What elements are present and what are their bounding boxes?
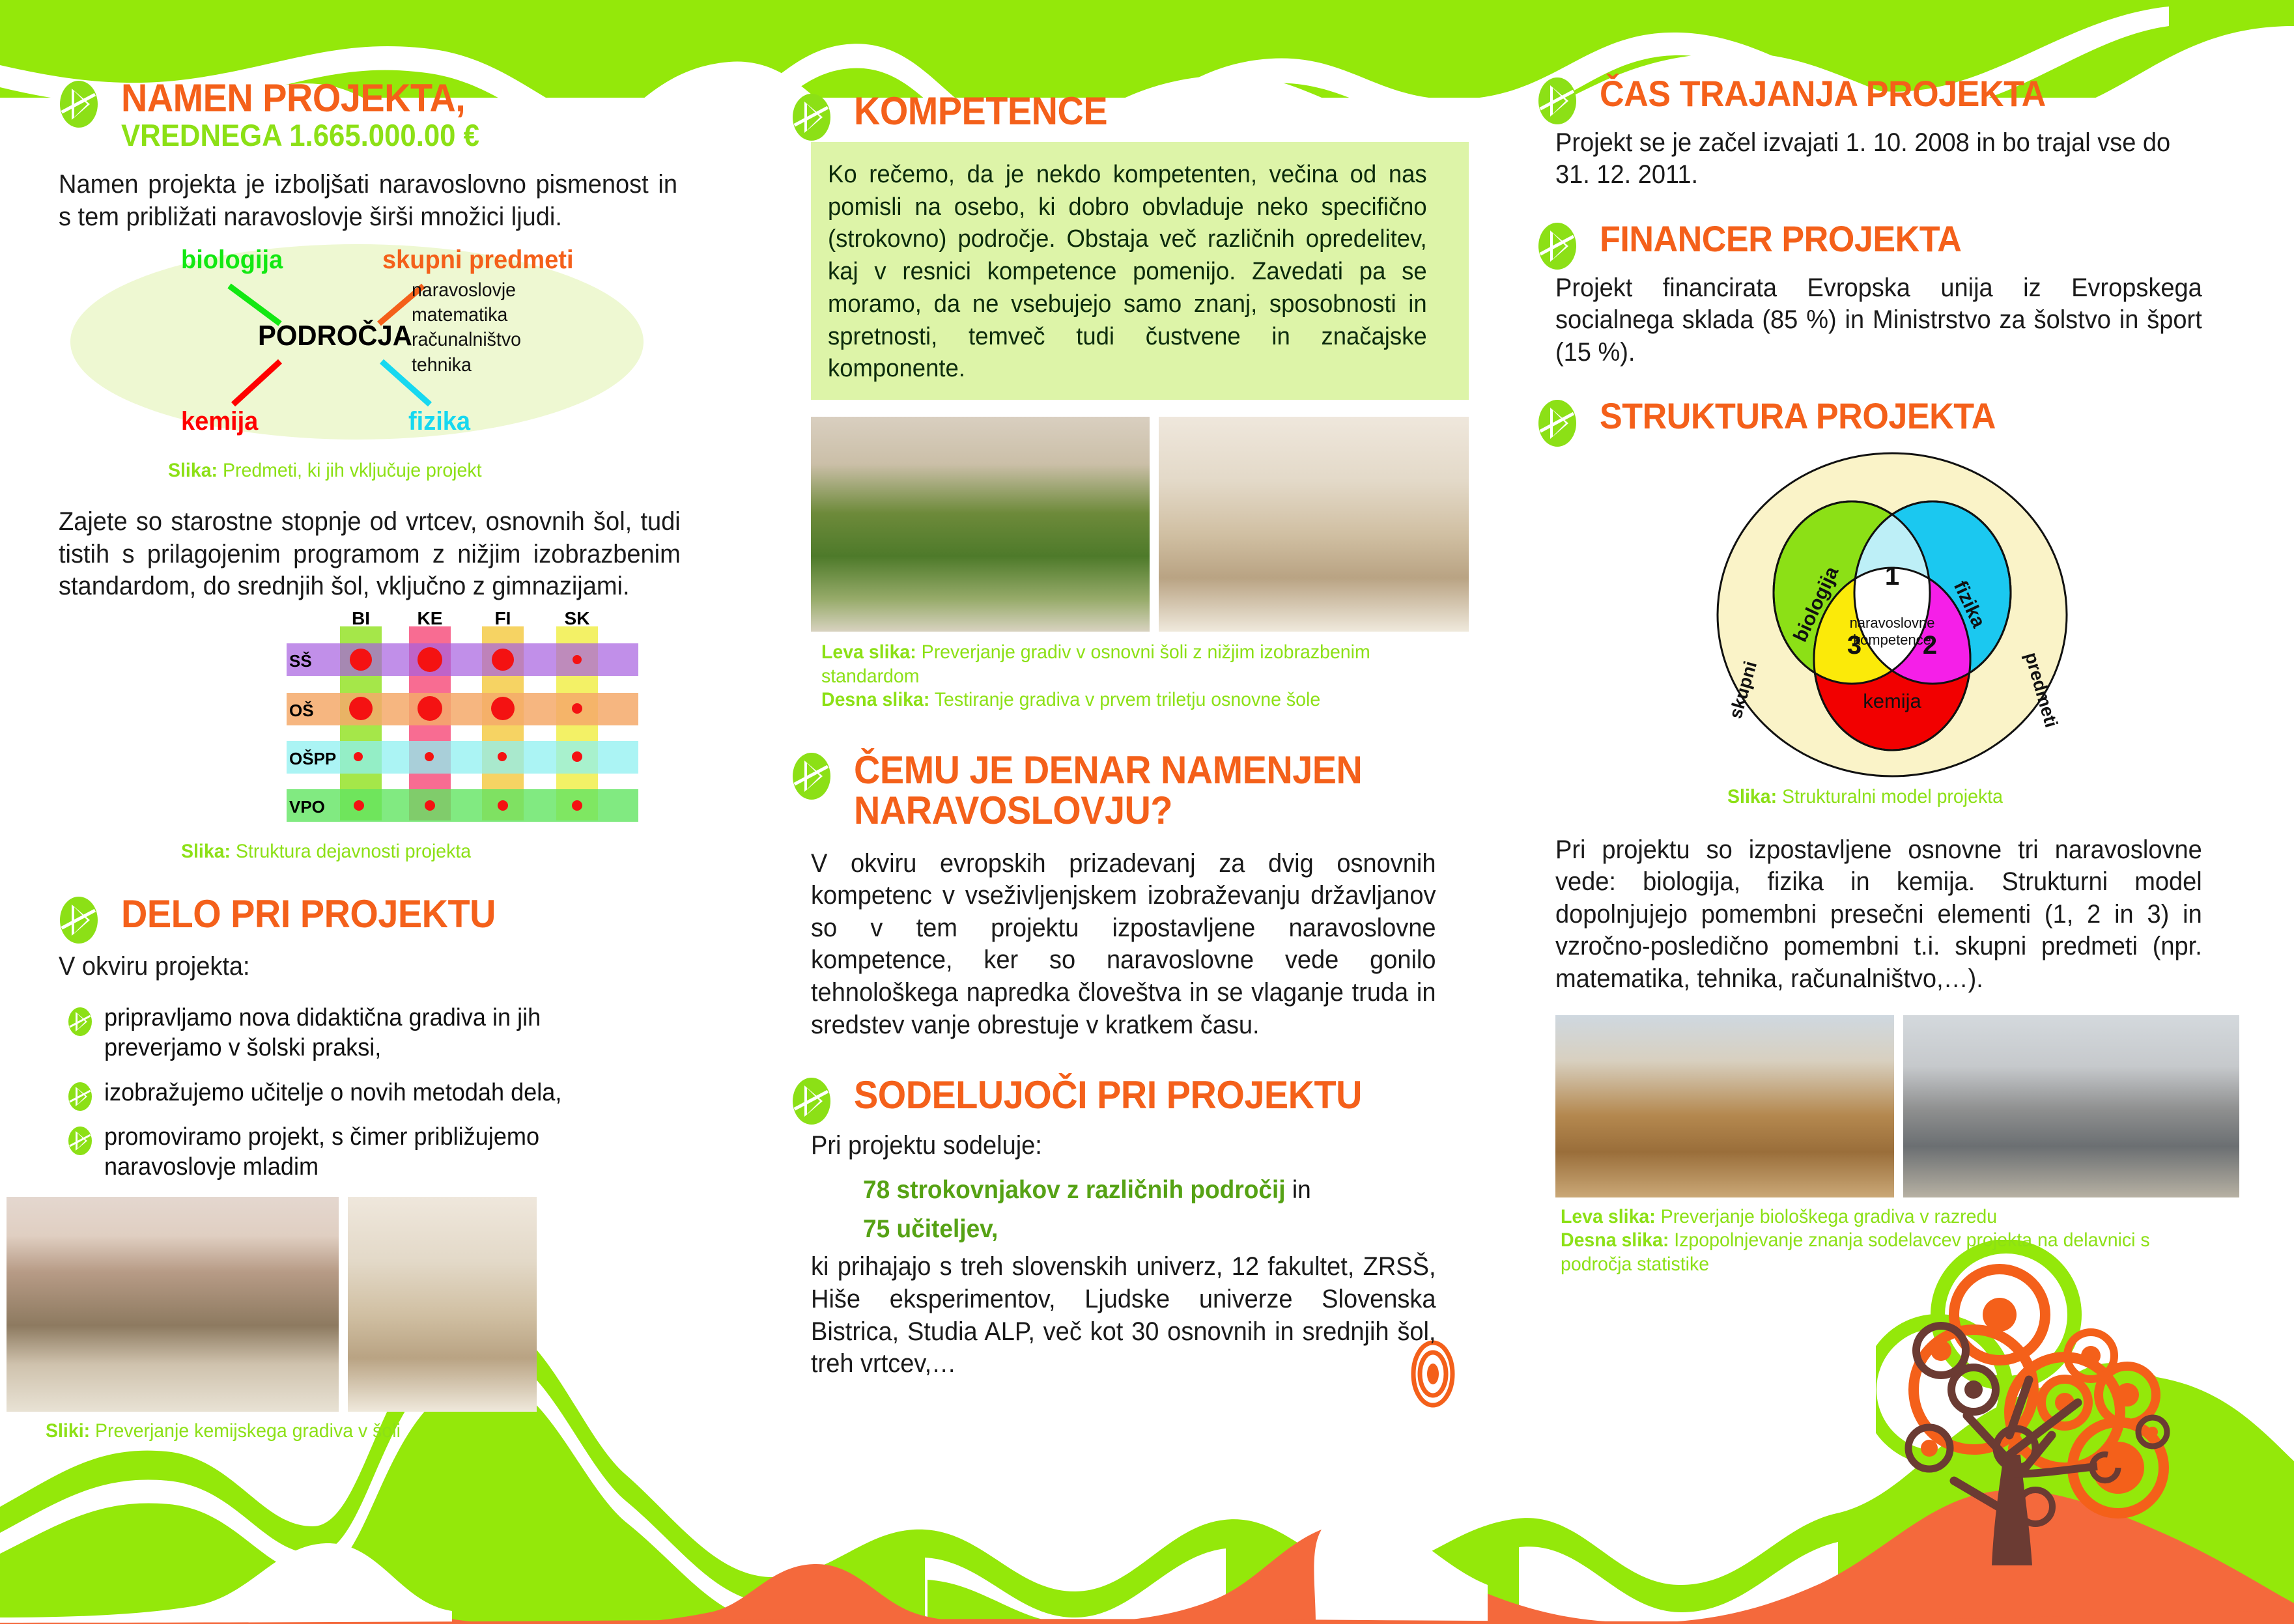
matrix-dot [498,800,508,811]
matrix-row-VPO [287,789,638,822]
list-item-text: promoviramo projekt, s čimer približujem… [104,1122,636,1183]
caption-right-photo: Desna slika: Testiranje gradiva v prvem … [821,688,1452,712]
matrix-rowlabel-SS: SŠ [289,651,312,671]
svg-text:kemija: kemija [1863,690,1921,712]
caption-text: Struktura dejavnosti projekta [231,841,471,862]
matrix-row-OS [287,693,638,725]
heading-cemu-line2: NARAVOSLOVJU? [854,791,1441,831]
sublist-item-matematika: matematika [412,303,521,328]
matrix-dot [572,703,582,714]
matrix-dot [418,696,442,721]
activity-structure-matrix: BI KE FI SK SŠ OŠ OŠPP VPO [280,612,645,833]
caption-matrix: Slika: Struktura dejavnosti projekta [181,840,727,864]
heading-kompetence: KOMPETENCE [854,91,1441,132]
caption-label: Desna slika: [821,689,929,710]
heading-cemu-line1: ČEMU JE DENAR NAMENJEN [854,750,1441,791]
structural-model-venn: biologija fizika kemija 1 2 3 naravoslov… [1537,444,2247,783]
photo-testing-material [1159,417,1469,632]
caption-label: Sliki: [46,1420,90,1442]
section-financer: FINANCER PROJEKTA [1537,220,2247,258]
section-cemu-je-denar: ČEMU JE DENAR NAMENJEN NARAVOSLOVJU? [791,750,1485,831]
areas-sublist: naravoslovje matematika računalništvo te… [412,278,521,378]
matrix-dot [425,800,435,811]
arrow-bullet-icon [59,895,99,945]
heading-sodelujoci: SODELUJOČI PRI PROJEKTU [854,1075,1441,1115]
matrix-dot [573,655,582,664]
arrow-bullet-icon [68,1007,92,1037]
delo-list: pripravljamo nova didaktična gradiva in … [59,1003,756,1183]
matrix-dot [572,751,582,762]
sodelujoci-highlights: 78 strokovnjakov z različnih področij in… [863,1172,1485,1250]
left-column: NAMEN PROJEKTA, VREDNEGA 1.665.000.00 € … [59,78,756,1443]
photo-biology-classroom [1555,1015,1894,1197]
paragraph-struktura: Pri projektu so izpostavljene osnovne tr… [1555,834,2202,996]
caption-label: Slika: [168,460,218,481]
list-item-text: pripravljamo nova didaktična gradiva in … [104,1003,649,1063]
caption-chemistry-photos: Sliki: Preverjanje kemijskega gradiva v … [46,1420,720,1444]
caption-label: Slika: [181,841,231,862]
paragraph-cas-trajanja: Projekt se je začel izvajati 1. 10. 2008… [1555,127,2199,191]
caption-label: Leva slika: [821,641,916,663]
arrow-bullet-icon [59,79,99,129]
section-namen-projekta: NAMEN PROJEKTA, VREDNEGA 1.665.000.00 € [59,78,756,152]
arrow-bullet-icon [1537,221,1578,271]
paragraph-sodelujoci: ki prihajajo s treh slovenskih univerz, … [811,1251,1436,1380]
paragraph-cemu: V okviru evropskih prizadevanj za dvig o… [811,848,1436,1042]
middle-column: KOMPETENCE Ko rečemo, da je nekdo kompet… [791,91,1485,1380]
caption-struktura-photos: Leva slika: Preverjanje biološkega gradi… [1561,1205,2213,1277]
heading-delo-pri-projektu: DELO PRI PROJEKTU [121,894,711,934]
caption-text: Predmeti, ki jih vključuje projekt [218,460,481,481]
kompetence-box-text: Ko rečemo, da je nekdo kompetenten, veči… [828,159,1427,385]
arrow-bullet-icon [791,751,832,801]
paragraph-financer: Projekt financirata Evropska unija iz Ev… [1555,272,2202,369]
photo-chemistry-class [7,1197,339,1412]
matrix-dot [491,697,515,720]
caption-areas-diagram: Slika: Predmeti, ki jih vključuje projek… [168,459,726,483]
paragraph-v-okviru: V okviru projekta: [59,951,721,983]
matrix-dot [350,649,372,671]
matrix-dot [492,649,514,671]
caption-label: Desna slika: [1561,1229,1669,1251]
label-skupni-predmeti: skupni predmeti [382,245,574,275]
section-kompetence: KOMPETENCE [791,91,1485,132]
matrix-dot [354,752,363,761]
brochure-page: NAMEN PROJEKTA, VREDNEGA 1.665.000.00 € … [0,0,2294,1624]
arrow-bullet-icon [68,1126,92,1156]
areas-diagram: biologija skupni predmeti kemija fizika … [65,240,723,455]
heading-financer: FINANCER PROJEKTA [1600,220,2202,258]
caption-left-photo: Leva slika: Preverjanje biološkega gradi… [1561,1205,2213,1229]
caption-text: Preverjanje biološkega gradiva v razredu [1656,1206,1997,1227]
arrow-bullet-icon [1537,399,1578,448]
photo-computer-workshop [1903,1015,2239,1197]
photo-elementary-school [811,417,1150,632]
matrix-header-BI: BI [340,608,382,629]
caption-left-photo: Leva slika: Preverjanje gradiv v osnovni… [821,641,1452,688]
photo-chemistry-student [348,1197,537,1412]
venn-svg: biologija fizika kemija 1 2 3 naravoslov… [1684,444,2101,783]
svg-text:kompetence: kompetence [1853,632,1931,648]
section-cas-trajanja: ČAS TRAJANJA PROJEKTA [1537,75,2247,113]
matrix-row-OSPP [287,741,638,774]
heading-cas-trajanja: ČAS TRAJANJA PROJEKTA [1600,75,2202,113]
matrix-header-KE: KE [409,608,451,629]
caption-label: Leva slika: [1561,1206,1656,1227]
stylized-tree-decoration [1876,1240,2293,1565]
sublist-item-racunalnistvo: računalništvo [412,328,521,352]
caption-right-photo: Desna slika: Izpopolnjevanje znanja sode… [1561,1229,2213,1276]
arrow-bullet-icon [791,1076,832,1126]
highlight-78-strokovnjakov: 78 strokovnjakov z različnih področij [863,1176,1286,1204]
paragraph-pri-projektu-sodeluje: Pri projektu sodeluje: [811,1130,1451,1162]
caption-text: Strukturalni model projekta [1777,786,2003,807]
list-item: promoviramo projekt, s čimer približujem… [59,1122,756,1183]
label-fizika: fizika [408,407,470,436]
section-sodelujoci: SODELUJOČI PRI PROJEKTU [791,1075,1485,1115]
subheading-vrednega: VREDNEGA 1.665.000.00 € [121,119,711,152]
caption-text: Testiranje gradiva v prvem triletju osno… [929,689,1320,710]
matrix-dot [349,697,373,720]
matrix-row-SS [287,643,638,676]
sublist-item-naravoslovje: naravoslovje [412,278,521,303]
matrix-rowlabel-OS: OŠ [289,701,314,721]
matrix-dot [354,800,364,811]
caption-text: Preverjanje kemijskega gradiva v šoli [90,1420,401,1442]
arrow-bullet-icon [791,92,832,142]
label-kemija: kemija [181,407,258,436]
matrix-rowlabel-VPO: VPO [289,797,325,817]
heading-namen-projekta: NAMEN PROJEKTA, [121,78,711,119]
caption-venn: Slika: Strukturalni model projekta [1537,785,2193,809]
caption-label: Slika: [1727,786,1777,807]
svg-text:1: 1 [1885,562,1899,591]
section-struktura: STRUKTURA PROJEKTA [1537,397,2247,435]
photo-pair-struktura [1555,1015,2239,1197]
photo-pair-kompetence [811,417,1469,632]
section-delo-pri-projektu: DELO PRI PROJEKTU [59,894,756,934]
paragraph-starostne-stopnje: Zajete so starostne stopnje od vrtcev, o… [59,506,681,603]
matrix-dot [418,647,442,672]
svg-text:naravoslovne: naravoslovne [1850,615,1935,631]
list-item-text: izobražujemo učitelje o novih metodah de… [104,1078,661,1108]
kompetence-text-box: Ko rečemo, da je nekdo kompetenten, veči… [811,142,1469,400]
matrix-dot [425,752,434,761]
list-item: izobražujemo učitelje o novih metodah de… [59,1078,756,1108]
arrow-bullet-icon [68,1082,92,1112]
label-biologija: biologija [181,245,283,275]
label-podrocja: PODROČJA [258,320,412,352]
highlight-75-uciteljev: 75 učiteljev, [863,1215,998,1243]
matrix-dot [572,800,582,811]
highlight-tail: in [1286,1176,1311,1204]
heading-struktura: STRUKTURA PROJEKTA [1600,397,2202,435]
matrix-header-SK: SK [556,608,598,629]
list-item: pripravljamo nova didaktična gradiva in … [59,1003,756,1063]
sublist-item-tehnika: tehnika [412,353,521,378]
matrix-dot [498,752,507,761]
arrow-bullet-icon [1537,76,1578,126]
right-column: ČAS TRAJANJA PROJEKTA Projekt se je zače… [1537,75,2247,1276]
photo-pair-chemistry [7,1197,756,1412]
caption-kompetence-photos: Leva slika: Preverjanje gradiv v osnovni… [821,641,1452,712]
paragraph-namen: Namen projekta je izboljšati naravoslovn… [59,169,677,233]
matrix-header-FI: FI [482,608,524,629]
matrix-rowlabel-OSPP: OŠPP [289,749,336,769]
